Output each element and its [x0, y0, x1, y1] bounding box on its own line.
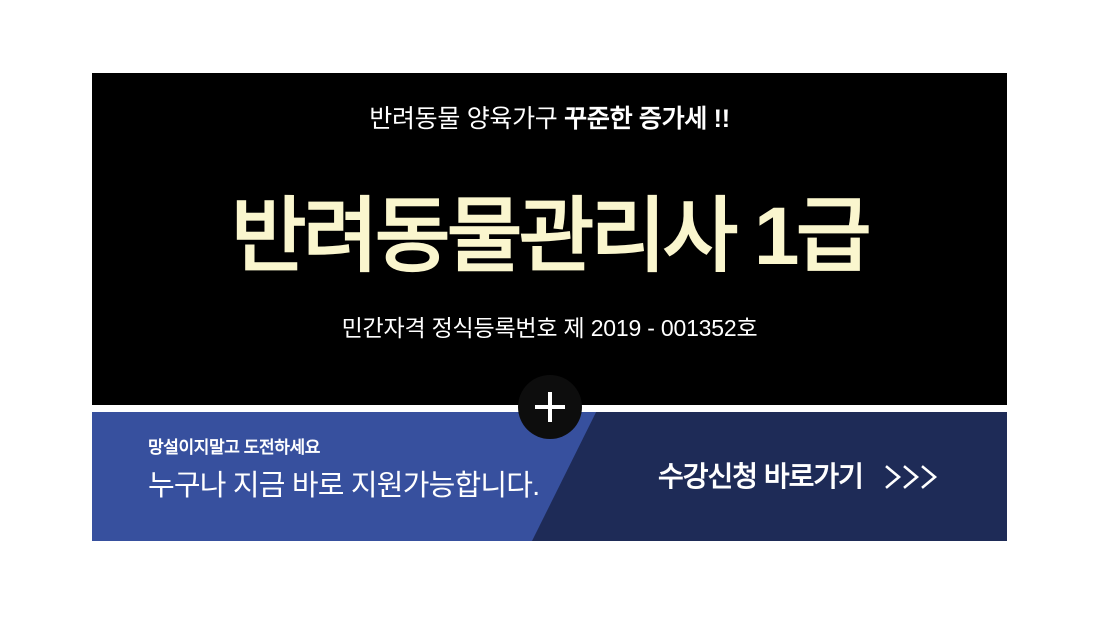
registration-number: 민간자격 정식등록번호 제 2019 - 001352호	[92, 316, 1007, 341]
hero-kicker-normal: 반려동물 양육가구	[369, 105, 564, 133]
hero-kicker-strong: 꾸준한 증가세 !!	[564, 105, 730, 133]
enroll-button[interactable]: 수강신청 바로가기	[658, 412, 947, 541]
enroll-button-label: 수강신청 바로가기	[658, 463, 863, 491]
hero-panel: 반려동물 양육가구 꾸준한 증가세 !! 반려동물관리사 1급 민간자격 정식등…	[92, 73, 1007, 405]
cta-headline: 누구나 지금 바로 지원가능합니다.	[148, 470, 618, 503]
chevron-right-triple-icon	[883, 462, 947, 492]
plus-icon-vertical-bar	[548, 392, 552, 422]
page-title: 반려동물관리사 1급	[92, 196, 1007, 278]
hero-kicker: 반려동물 양육가구 꾸준한 증가세 !!	[92, 106, 1007, 134]
plus-icon[interactable]	[518, 375, 582, 439]
promo-banner: 반려동물 양육가구 꾸준한 증가세 !! 반려동물관리사 1급 민간자격 정식등…	[0, 0, 1100, 630]
cta-eyebrow: 망설이지말고 도전하세요	[148, 438, 618, 458]
cta-text-block: 망설이지말고 도전하세요 누구나 지금 바로 지원가능합니다.	[148, 438, 618, 504]
